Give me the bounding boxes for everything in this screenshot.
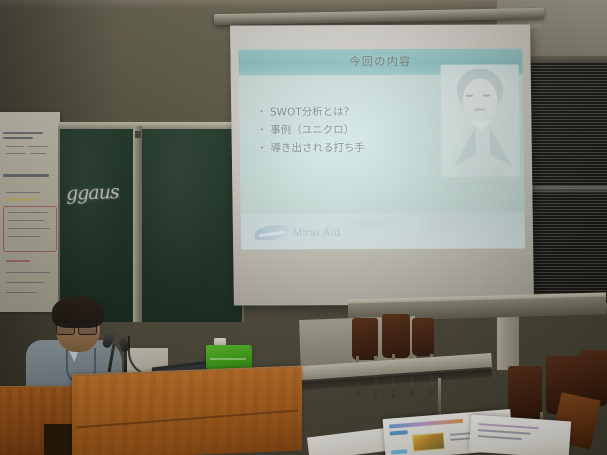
handout-text-line: [479, 423, 539, 429]
handout-image-thumb: [412, 432, 445, 451]
front-desk: [72, 368, 302, 455]
glasses-icon: [56, 322, 101, 333]
blackboard-clip: [135, 131, 141, 138]
poster-stroke: [30, 153, 46, 154]
handout-color-bar: [390, 430, 408, 435]
microphone-stand-arm-2: [124, 350, 127, 374]
poster-stroke: [3, 137, 33, 139]
blackboard-top-rail: [58, 122, 244, 129]
poster-stroke: [6, 272, 50, 273]
front-desk-groove: [76, 409, 298, 428]
handout-text-line: [478, 435, 522, 440]
poster-stroke: [6, 282, 44, 283]
slide-bullet-3: 導き出される打ち手: [260, 139, 450, 158]
portrait-eye-left: [466, 95, 473, 97]
handout-text-line: [478, 429, 530, 434]
blackboard-panel-left: [60, 129, 133, 322]
poster-stroke: [6, 153, 26, 154]
poster-stroke: [6, 260, 30, 262]
poster-stroke: [6, 192, 40, 193]
slide-bullet-1: SWOT分析とは？: [259, 103, 449, 122]
podium-shadow-gap: [44, 424, 74, 455]
green-case: [206, 345, 252, 369]
portrait-mouth: [474, 109, 485, 111]
handout-color-bar: [391, 449, 407, 454]
chair: [382, 314, 410, 358]
slide-portrait-photo: [441, 65, 521, 177]
poster-stroke: [8, 228, 50, 229]
chair: [352, 318, 378, 360]
poster-stroke: [8, 220, 44, 221]
projected-slide: 今回の内容 SWOT分析とは？ 事例（ユニクロ） 導き出される打ち手: [238, 49, 525, 250]
chair: [412, 318, 434, 356]
logo-text: Mirai Aid: [293, 227, 341, 239]
poster-highlight: [6, 198, 36, 201]
chair: [508, 366, 542, 420]
projection-screen: 今回の内容 SWOT分析とは？ 事例（ユニクロ） 導き出される打ち手: [230, 24, 534, 305]
handout-color-bar: [389, 419, 463, 429]
poster-stroke: [3, 174, 49, 177]
logo-swoosh-icon: [255, 225, 289, 240]
slide-footer-band: Mirai Aid: [241, 212, 526, 249]
poster-stroke: [6, 292, 36, 293]
portrait-eye-right: [483, 95, 490, 97]
blackboard-panel-right: [142, 129, 242, 322]
poster-stroke: [6, 146, 24, 147]
slide-bullet-2: 事例（ユニクロ）: [259, 121, 449, 140]
classroom-photo: ggaus 今回の内容 SWOT分析とは？ 事例（ユニクロ） 導き出される打ち手: [0, 0, 607, 455]
poster-stroke: [3, 132, 43, 134]
green-case-stripe: [210, 358, 246, 360]
handwritten-poster: [0, 112, 60, 312]
footer-blur-region: [337, 213, 407, 233]
glasses-lens-right: [78, 322, 97, 335]
handout-paper: [469, 415, 571, 455]
poster-stroke: [28, 146, 48, 147]
poster-stroke: [8, 236, 40, 237]
blackboard-divider: [133, 126, 142, 322]
chalk-writing: ggaus: [66, 181, 119, 205]
poster-stroke: [8, 212, 48, 213]
portrait-face: [463, 79, 498, 121]
glasses-lens-left: [56, 322, 75, 335]
footer-blur-region: [417, 211, 475, 235]
slide-bullet-list: SWOT分析とは？ 事例（ユニクロ） 導き出される打ち手: [259, 103, 450, 158]
